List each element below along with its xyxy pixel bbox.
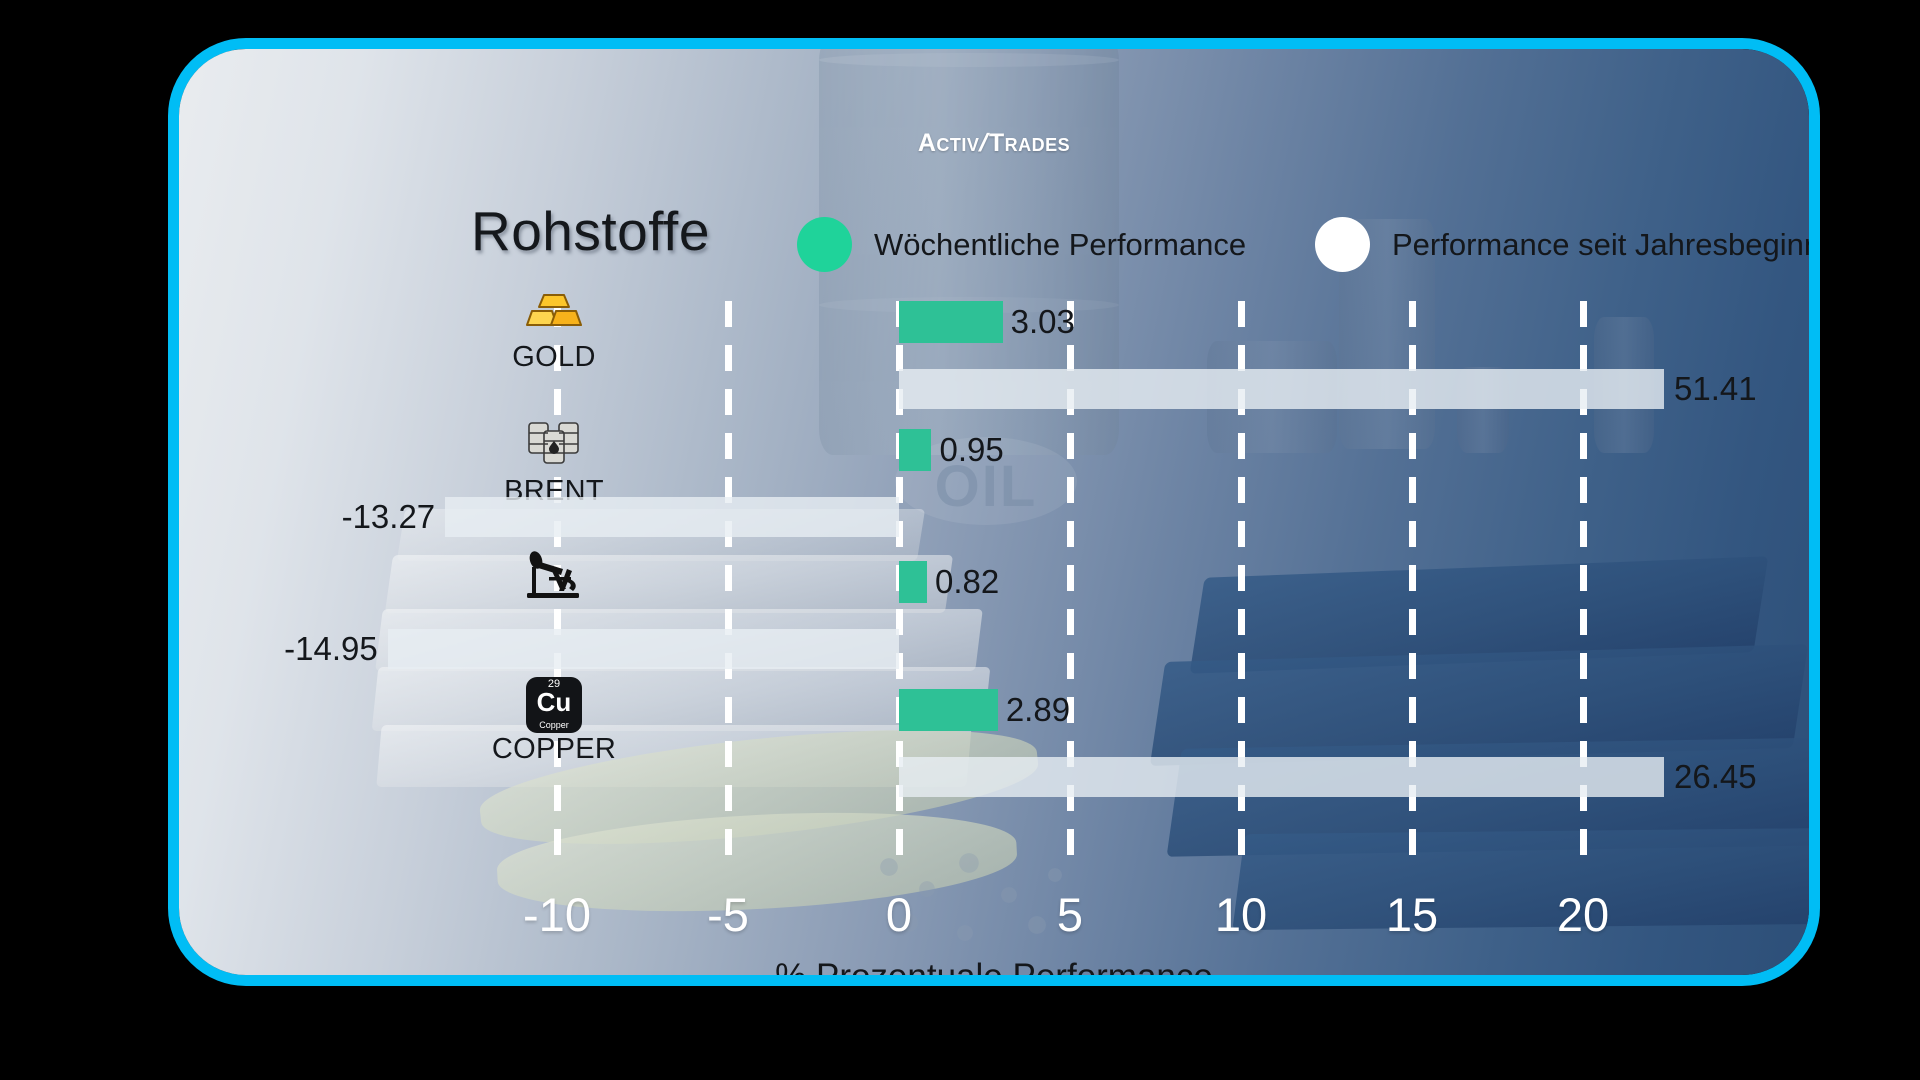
bar-weekly [899,689,998,731]
x-axis-tick: 15 [1386,887,1438,942]
bar-value-weekly: 2.89 [1006,693,1070,726]
x-axis-label: % Prozentuale Performance [179,957,1809,986]
bar-ytd [899,757,1664,797]
gridline [725,301,732,871]
legend-item-weekly: Wöchentliche Performance [797,217,1246,272]
category-name: GOLD [459,341,649,374]
category-name: COPPER [459,733,649,766]
gold-bars-icon-svg [526,289,582,333]
bar-value-ytd: 26.45 [1674,760,1757,793]
bar-value-ytd: -14.95 [284,632,378,665]
x-axis-tick: -5 [707,887,749,942]
legend-label-ytd: Performance seit Jahresbeginn [1392,227,1820,263]
bar-weekly [899,301,1003,343]
legend-marker-white-circle-icon [1315,217,1370,272]
bar-ytd [445,497,899,537]
card-background: OIL Activ/Trades Rohstoffe Wöchentliche … [179,49,1809,975]
page-title: Rohstoffe [471,199,710,263]
gold-bars-icon [459,289,649,341]
category-label-gold: GOLD [459,289,649,374]
x-axis-tick: 5 [1057,887,1083,942]
bar-ytd [899,369,1664,409]
category-label-copper: 29CuCopperCOPPER [459,677,649,766]
oil-barrels-icon [459,417,649,475]
legend-label-weekly: Wöchentliche Performance [874,227,1246,263]
bar-weekly [899,429,931,471]
brand-name-trades: Trades [989,129,1070,157]
bar-value-weekly: 3.03 [1011,305,1075,338]
oil-pump-icon [459,549,649,609]
brand-logo: Activ/Trades [179,129,1809,158]
category-label-oil-pump [459,549,649,609]
bar-value-weekly: 0.82 [935,565,999,598]
x-axis-tick: 20 [1557,887,1609,942]
copper-element-tile: 29CuCopper [526,677,582,733]
x-axis-tick: 0 [886,887,912,942]
bar-weekly [899,561,927,603]
oil-barrels-icon-svg [526,417,582,467]
oil-pump-icon-svg [523,549,585,601]
screenshot-root: OIL Activ/Trades Rohstoffe Wöchentliche … [0,0,1920,1080]
bar-value-ytd: 51.41 [1674,372,1757,405]
copper-word: Copper [526,721,582,730]
brand-name-activ: Activ [918,129,980,157]
chart-plot-area: GOLD3.0351.41BRENT0.95-13.270.82-14.9529… [179,301,1809,871]
copper-symbol: Cu [526,689,582,715]
infographic-card: OIL Activ/Trades Rohstoffe Wöchentliche … [168,38,1820,986]
copper-element-icon: 29CuCopper [459,677,649,733]
x-axis-tick: 10 [1215,887,1267,942]
bar-ytd [388,629,899,669]
legend-marker-green-circle-icon [797,217,852,272]
legend-item-ytd: Performance seit Jahresbeginn [1315,217,1820,272]
category-label-brent: BRENT [459,417,649,508]
bar-value-weekly: 0.95 [939,433,1003,466]
bar-value-ytd: -13.27 [342,500,436,533]
x-axis-tick: -10 [523,887,591,942]
